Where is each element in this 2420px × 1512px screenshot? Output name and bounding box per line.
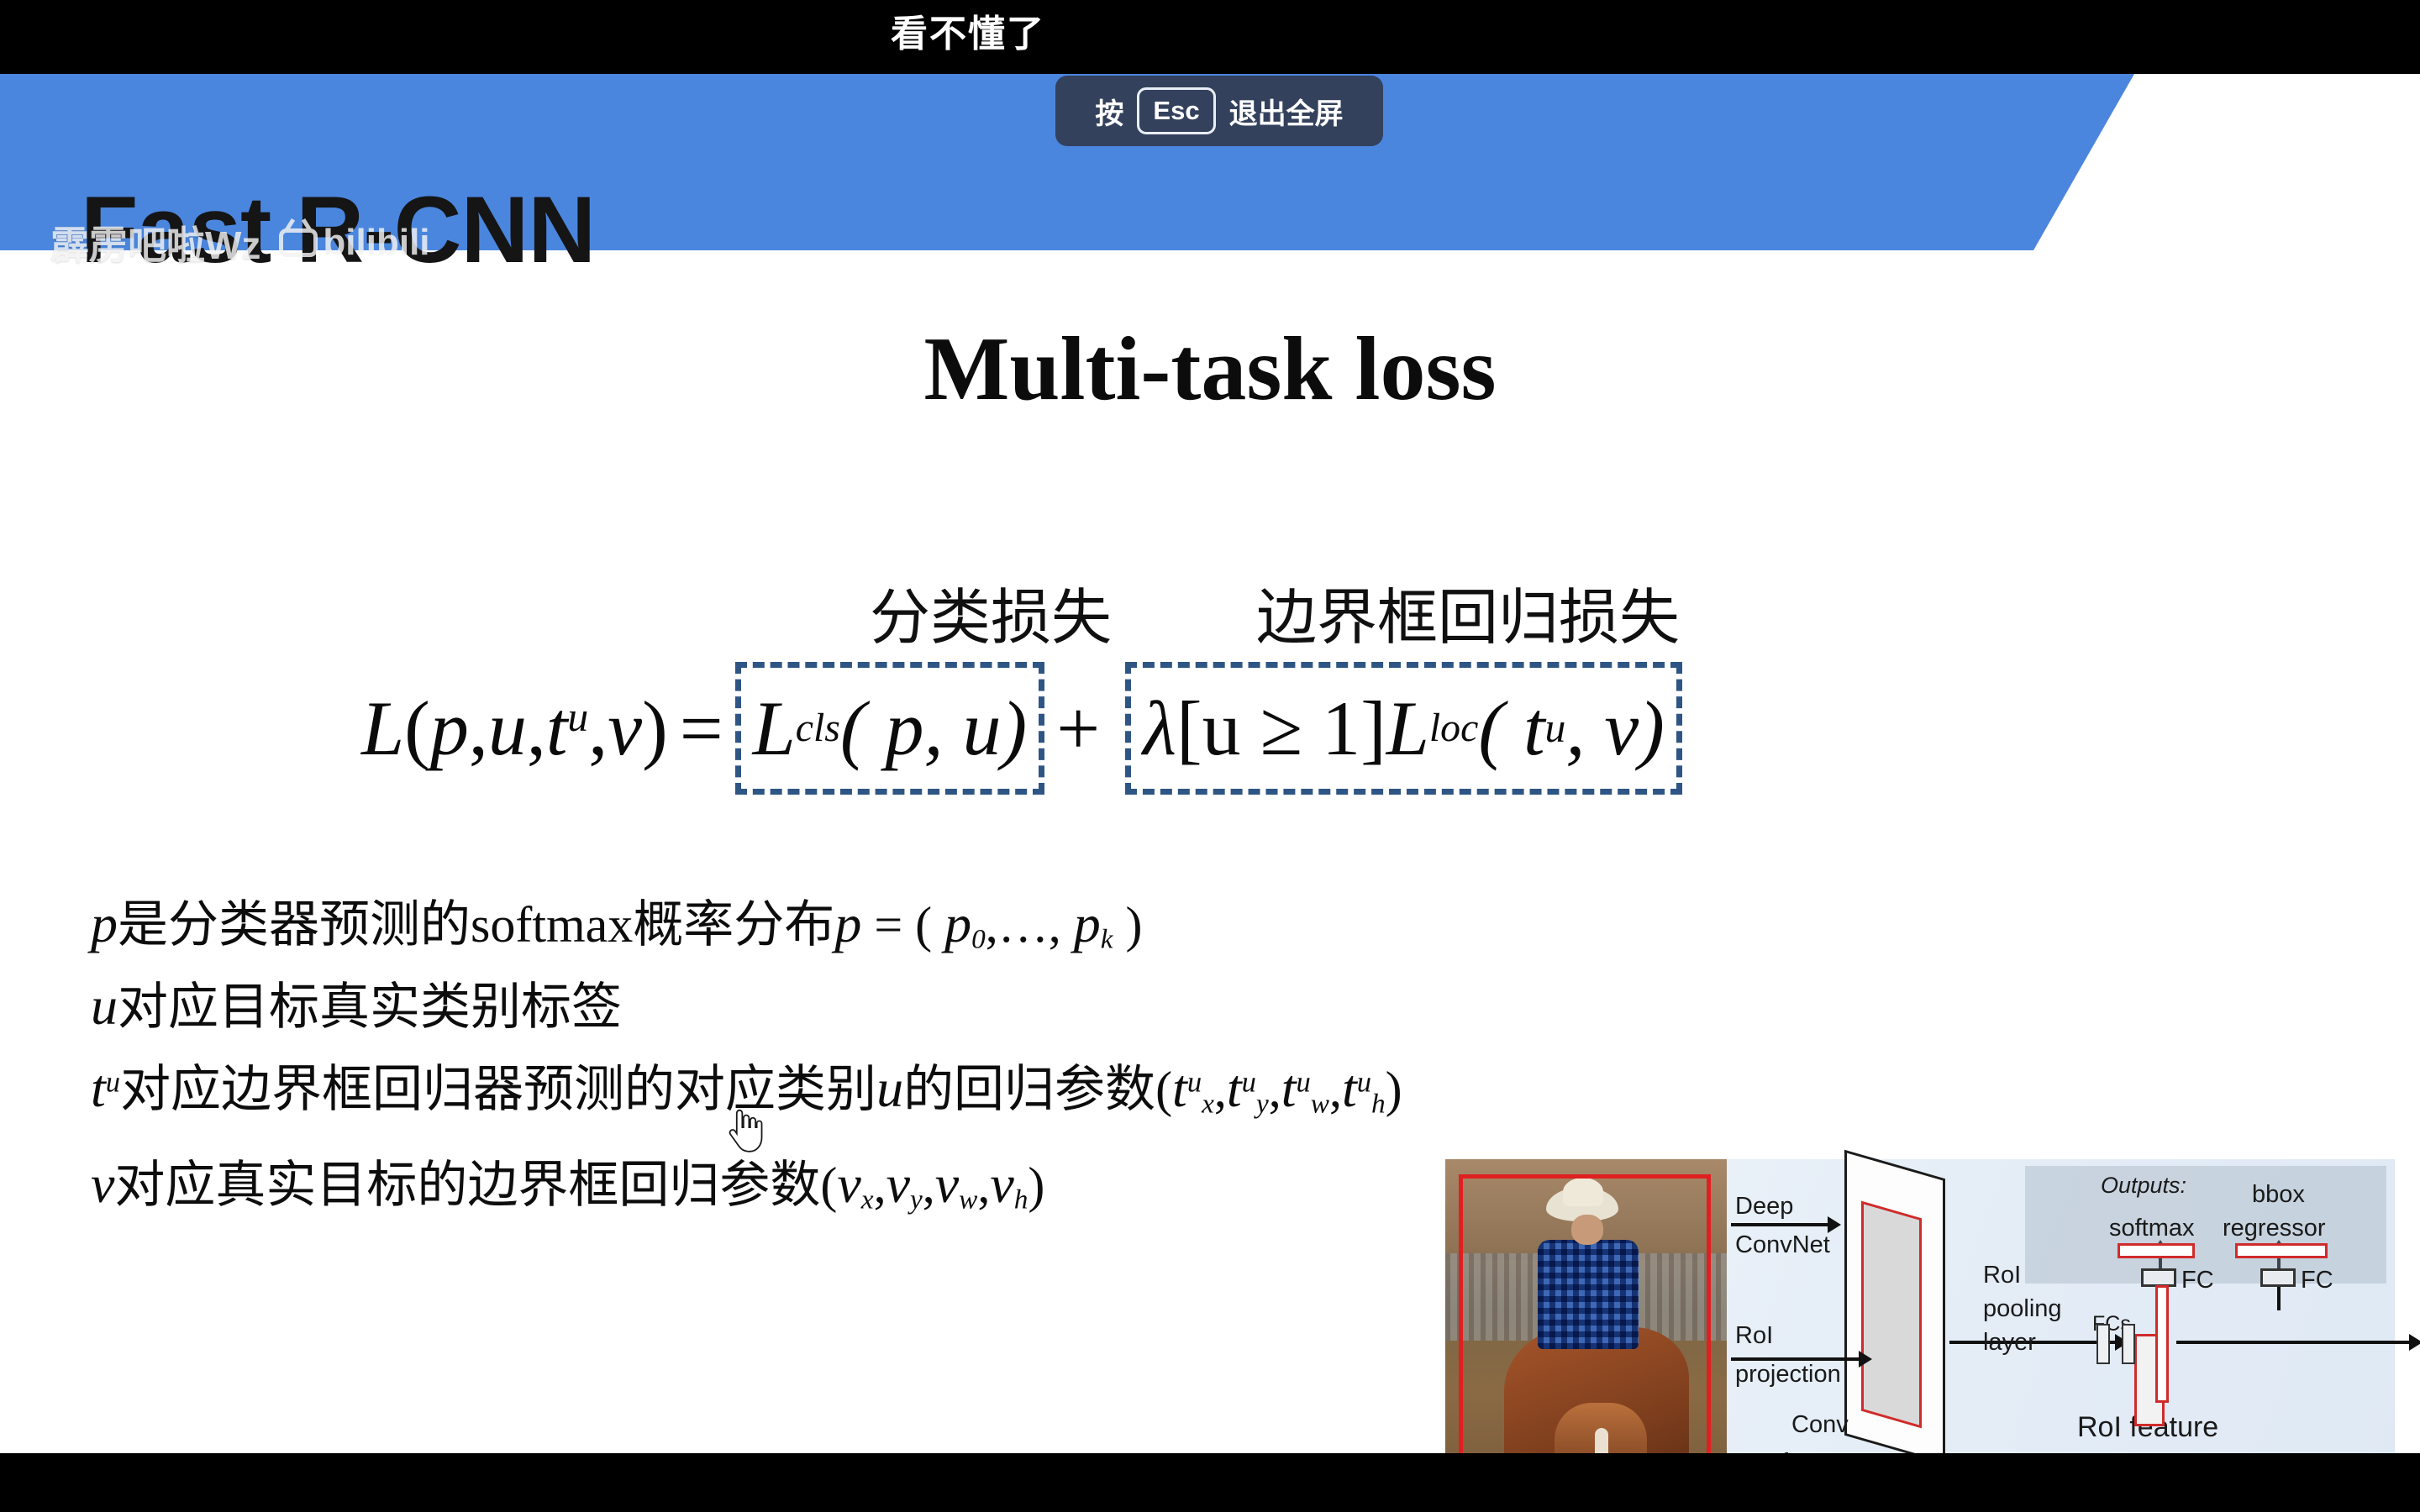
label-fc-1: FC [2181, 1267, 2214, 1294]
label-bbox-regression-loss: 边界框回归损失 [1256, 568, 1680, 656]
localization-loss-box: λ[u ≥ 1]Lloc( tu, v) [1125, 662, 1682, 795]
roi-feature-vector-bar [2155, 1285, 2169, 1403]
slide-canvas: Fast R-CNN 霹雳吧啦Wz bilibili Multi-task lo… [0, 74, 2420, 1453]
label-projection: projection [1735, 1361, 1841, 1388]
label-conv: Conv [1791, 1411, 1849, 1438]
page-title: Multi-task loss [0, 318, 2420, 422]
outputs-panel [2025, 1166, 2386, 1284]
fast-rcnn-architecture-figure: Deep ConvNet RoI projection Conv feature… [1445, 1159, 2395, 1453]
arrow-deep-convnet [1731, 1223, 1839, 1226]
equals-sign: = [668, 684, 735, 773]
esc-key-badge: Esc [1137, 87, 1215, 135]
label-layer: layer [1983, 1329, 2036, 1356]
roi-bounding-box [1459, 1174, 1711, 1453]
label-regressor: regressor [2223, 1215, 2326, 1242]
fc-box-softmax [2141, 1268, 2176, 1287]
label-pooling: pooling [1983, 1295, 2062, 1322]
exit-fullscreen-tooltip: 按 Esc 退出全屏 [1055, 76, 1383, 146]
classification-loss-box: Lcls( p, u) [735, 662, 1045, 795]
label-fc-2: FC [2301, 1267, 2333, 1294]
video-player-fullscreen: 看不懂了 Fast R-CNN 霹雳吧啦Wz bilibili Multi-ta… [0, 0, 2420, 1512]
multi-task-loss-formula: L(p,u,tu,v) = Lcls( p, u) + λ[u ≥ 1]Lloc… [361, 662, 1682, 795]
slide-header-title: Fast R-CNN [81, 183, 595, 277]
fcs-slab-2 [2122, 1324, 2135, 1364]
plus-sign: + [1044, 684, 1112, 773]
explanation-line-p: p是分类器预测的softmax概率分布p = ( p0,…, pk ) [91, 897, 1143, 953]
explanation-line-u: u对应目标真实类别标签 [91, 979, 622, 1033]
explanation-line-v: v对应真实目标的边界框回归参数(vx,vy,vw,vh) [91, 1158, 1044, 1214]
fc-box-bbox [2260, 1268, 2296, 1287]
softmax-output-bar [2117, 1243, 2195, 1258]
bbox-output-bar [2235, 1243, 2328, 1258]
bottom-letterbox [0, 1453, 2420, 1512]
tooltip-suffix: 退出全屏 [1229, 91, 1344, 132]
label-deep: Deep [1735, 1193, 1793, 1220]
danmaku-comment: 看不懂了 [891, 3, 1045, 57]
label-outputs: Outputs: [2101, 1173, 2186, 1198]
conv-feature-map-roi [1861, 1201, 1922, 1429]
label-roi: RoI [1735, 1322, 1773, 1349]
label-roi-2: RoI [1983, 1262, 2021, 1289]
top-letterbox: 看不懂了 [0, 0, 2420, 74]
label-bbox: bbox [2252, 1181, 2305, 1208]
explanation-line-t: tu对应边界框回归器预测的对应类别u的回归参数(tux,tuy,tuw,tuh) [91, 1062, 1402, 1118]
formula-lhs: L(p,u,tu,v) [361, 684, 668, 773]
tooltip-prefix: 按 [1095, 91, 1123, 132]
label-convnet: ConvNet [1735, 1231, 1830, 1258]
arrow-to-fc-branch [2176, 1341, 2420, 1344]
fcs-slab-1 [2096, 1324, 2110, 1364]
label-softmax: softmax [2109, 1215, 2195, 1242]
label-classification-loss: 分类损失 [870, 568, 1112, 656]
